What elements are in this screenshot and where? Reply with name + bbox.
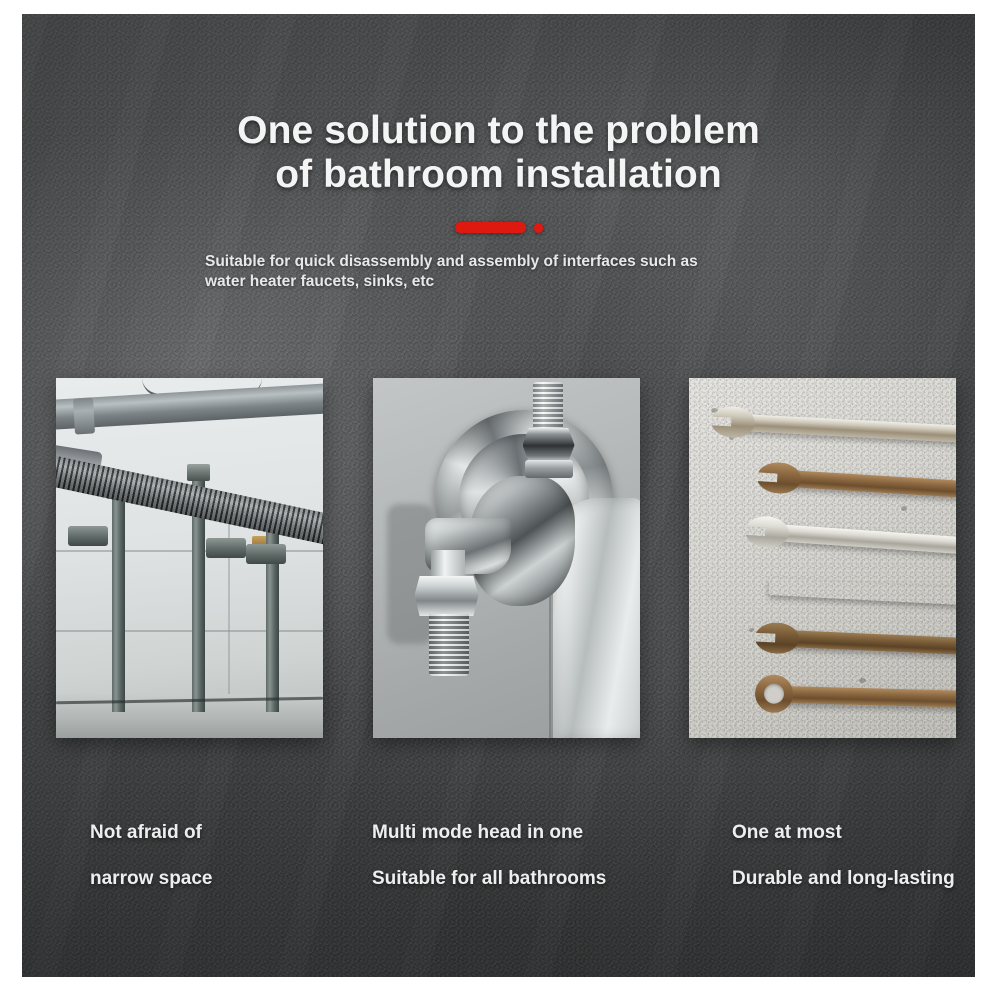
- caption-panel-3: One at most Durable and long-lasting: [732, 798, 955, 890]
- tile-grout-line: [56, 630, 323, 632]
- pipe-collar: [73, 397, 95, 434]
- faucet-outlet-nut: [415, 576, 479, 616]
- faucet-outlet-stem: [431, 550, 465, 580]
- caption-2-line-1: Multi mode head in one: [372, 822, 583, 843]
- accent-divider: [22, 222, 975, 233]
- feature-panels: [56, 378, 956, 738]
- wrench-ring-hole: [764, 683, 785, 704]
- faucet-hex-nut: [523, 428, 575, 462]
- faucet-threaded-outlet: [429, 614, 469, 676]
- shutoff-valve: [206, 538, 246, 558]
- chrome-faucet-photo: [373, 378, 640, 738]
- subtitle: Suitable for quick disassembly and assem…: [205, 252, 825, 292]
- concrete-speck: [859, 678, 866, 683]
- caption-panel-1: Not afraid of narrow space: [90, 798, 213, 890]
- caption-3-line-1: One at most: [732, 821, 955, 844]
- accent-divider-dot: [534, 223, 543, 233]
- caption-3-line-2: Durable and long-lasting: [732, 868, 955, 889]
- headline-line-1: One solution to the problem: [237, 109, 760, 152]
- concrete-speck: [749, 628, 754, 632]
- tile-grout-line: [228, 498, 230, 714]
- subtitle-line-2: water heater faucets, sinks, etc: [205, 272, 825, 292]
- pipes-under-sink-photo: [56, 378, 323, 738]
- feature-panel-1: [56, 378, 323, 738]
- shutoff-valve: [246, 544, 286, 564]
- caption-1-line-2: narrow space: [90, 868, 213, 889]
- shutoff-valve: [68, 526, 108, 546]
- panel-captions: Not afraid of narrow space Multi mode he…: [22, 784, 975, 854]
- feature-panel-3: [689, 378, 956, 738]
- caption-panel-2: Multi mode head in one Suitable for all …: [372, 798, 606, 890]
- caption-1-line-1: Not afraid of: [90, 822, 202, 843]
- feature-panel-2: [373, 378, 640, 738]
- accent-divider-bar: [455, 222, 526, 233]
- pipe-nut: [187, 464, 210, 481]
- headline: One solution to the problem of bathroom …: [22, 109, 975, 197]
- drop-pipe: [112, 490, 125, 712]
- headline-line-2: of bathroom installation: [22, 153, 975, 197]
- product-feature-banner: One solution to the problem of bathroom …: [22, 14, 975, 977]
- concrete-speck: [901, 506, 907, 511]
- subtitle-line-1: Suitable for quick disassembly and assem…: [205, 253, 698, 270]
- wrench-set-photo: [689, 378, 956, 738]
- caption-2-line-2: Suitable for all bathrooms: [372, 868, 606, 889]
- faucet-hex-nut-collar: [525, 460, 573, 478]
